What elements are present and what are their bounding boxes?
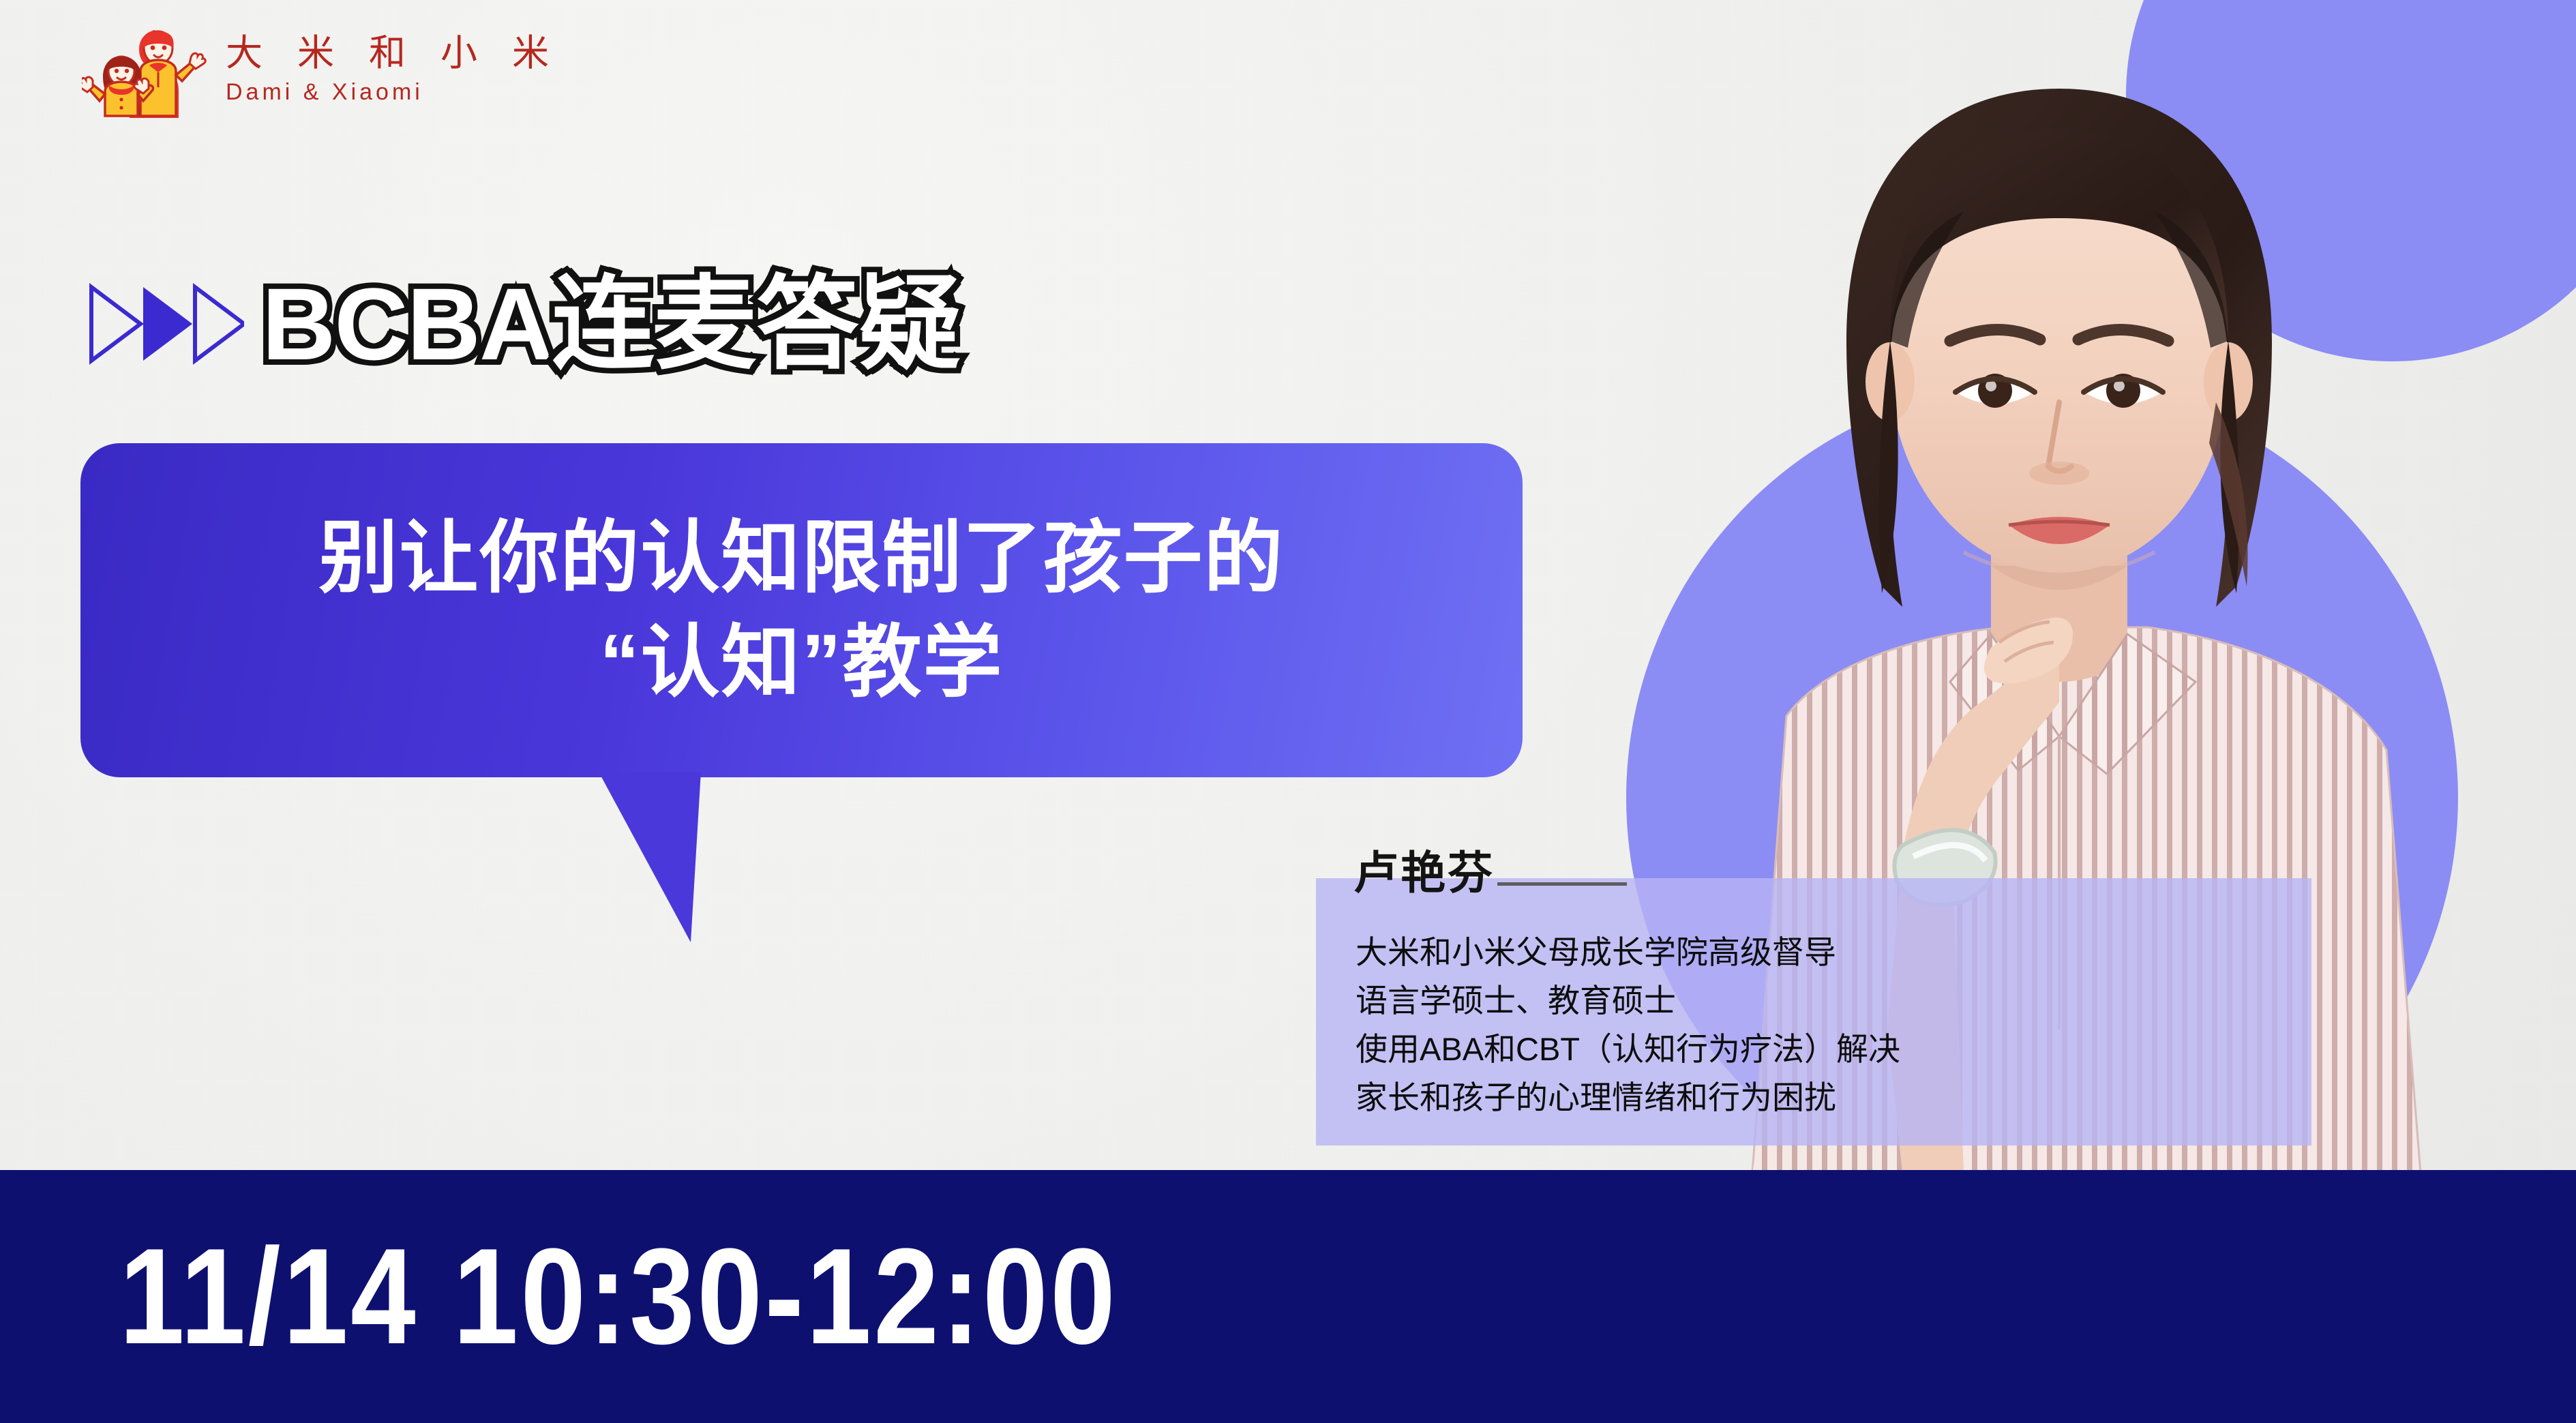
schedule-datetime: 11/14 10:30-12:00	[119, 1229, 1118, 1365]
triple-chevron-right-icon	[87, 280, 244, 368]
credential-line: 语言学硕士、教育硕士	[1356, 980, 2310, 1021]
two-children-logo-icon	[82, 15, 208, 124]
speaker-name-rule	[1497, 882, 1627, 886]
credential-line: 家长和孩子的心理情绪和行为困扰	[1356, 1077, 2310, 1118]
speaker-name-row: 卢艳芬	[1353, 850, 1627, 895]
speaker-name: 卢艳芬	[1353, 850, 1495, 895]
brand-name-cn: 大 米 和 小 米	[226, 33, 561, 74]
headline-row: BCBA连麦答疑	[87, 273, 961, 375]
promo-poster: 大 米 和 小 米 Dami & Xiaomi BCBA连麦答疑 别让你的认知限…	[0, 0, 2576, 1423]
bubble-line-2: “认知”教学	[600, 616, 1004, 709]
brand-name-en: Dami & Xiaomi	[226, 78, 561, 106]
headline-cjk: 连麦答疑	[552, 267, 961, 381]
page-title: BCBA连麦答疑	[262, 273, 961, 375]
credential-line: 大米和小米父母成长学院高级督导	[1356, 932, 2310, 973]
headline-latin: BCBA	[262, 267, 552, 381]
speech-bubble: 别让你的认知限制了孩子的 “认知”教学	[80, 443, 1523, 777]
brand-logo: 大 米 和 小 米 Dami & Xiaomi	[82, 15, 561, 124]
schedule-bar: 11/14 10:30-12:00	[0, 1170, 2576, 1423]
credential-line: 使用ABA和CBT（认知行为疗法）解决	[1356, 1029, 2310, 1070]
speech-bubble-tail-icon	[599, 772, 721, 949]
brand-wordmark: 大 米 和 小 米 Dami & Xiaomi	[226, 33, 561, 106]
speech-bubble-text: 别让你的认知限制了孩子的 “认知”教学	[80, 443, 1523, 777]
credentials-list: 大米和小米父母成长学院高级督导 语言学硕士、教育硕士 使用ABA和CBT（认知行…	[1356, 932, 2310, 1119]
bubble-line-1: 别让你的认知限制了孩子的	[319, 511, 1285, 605]
